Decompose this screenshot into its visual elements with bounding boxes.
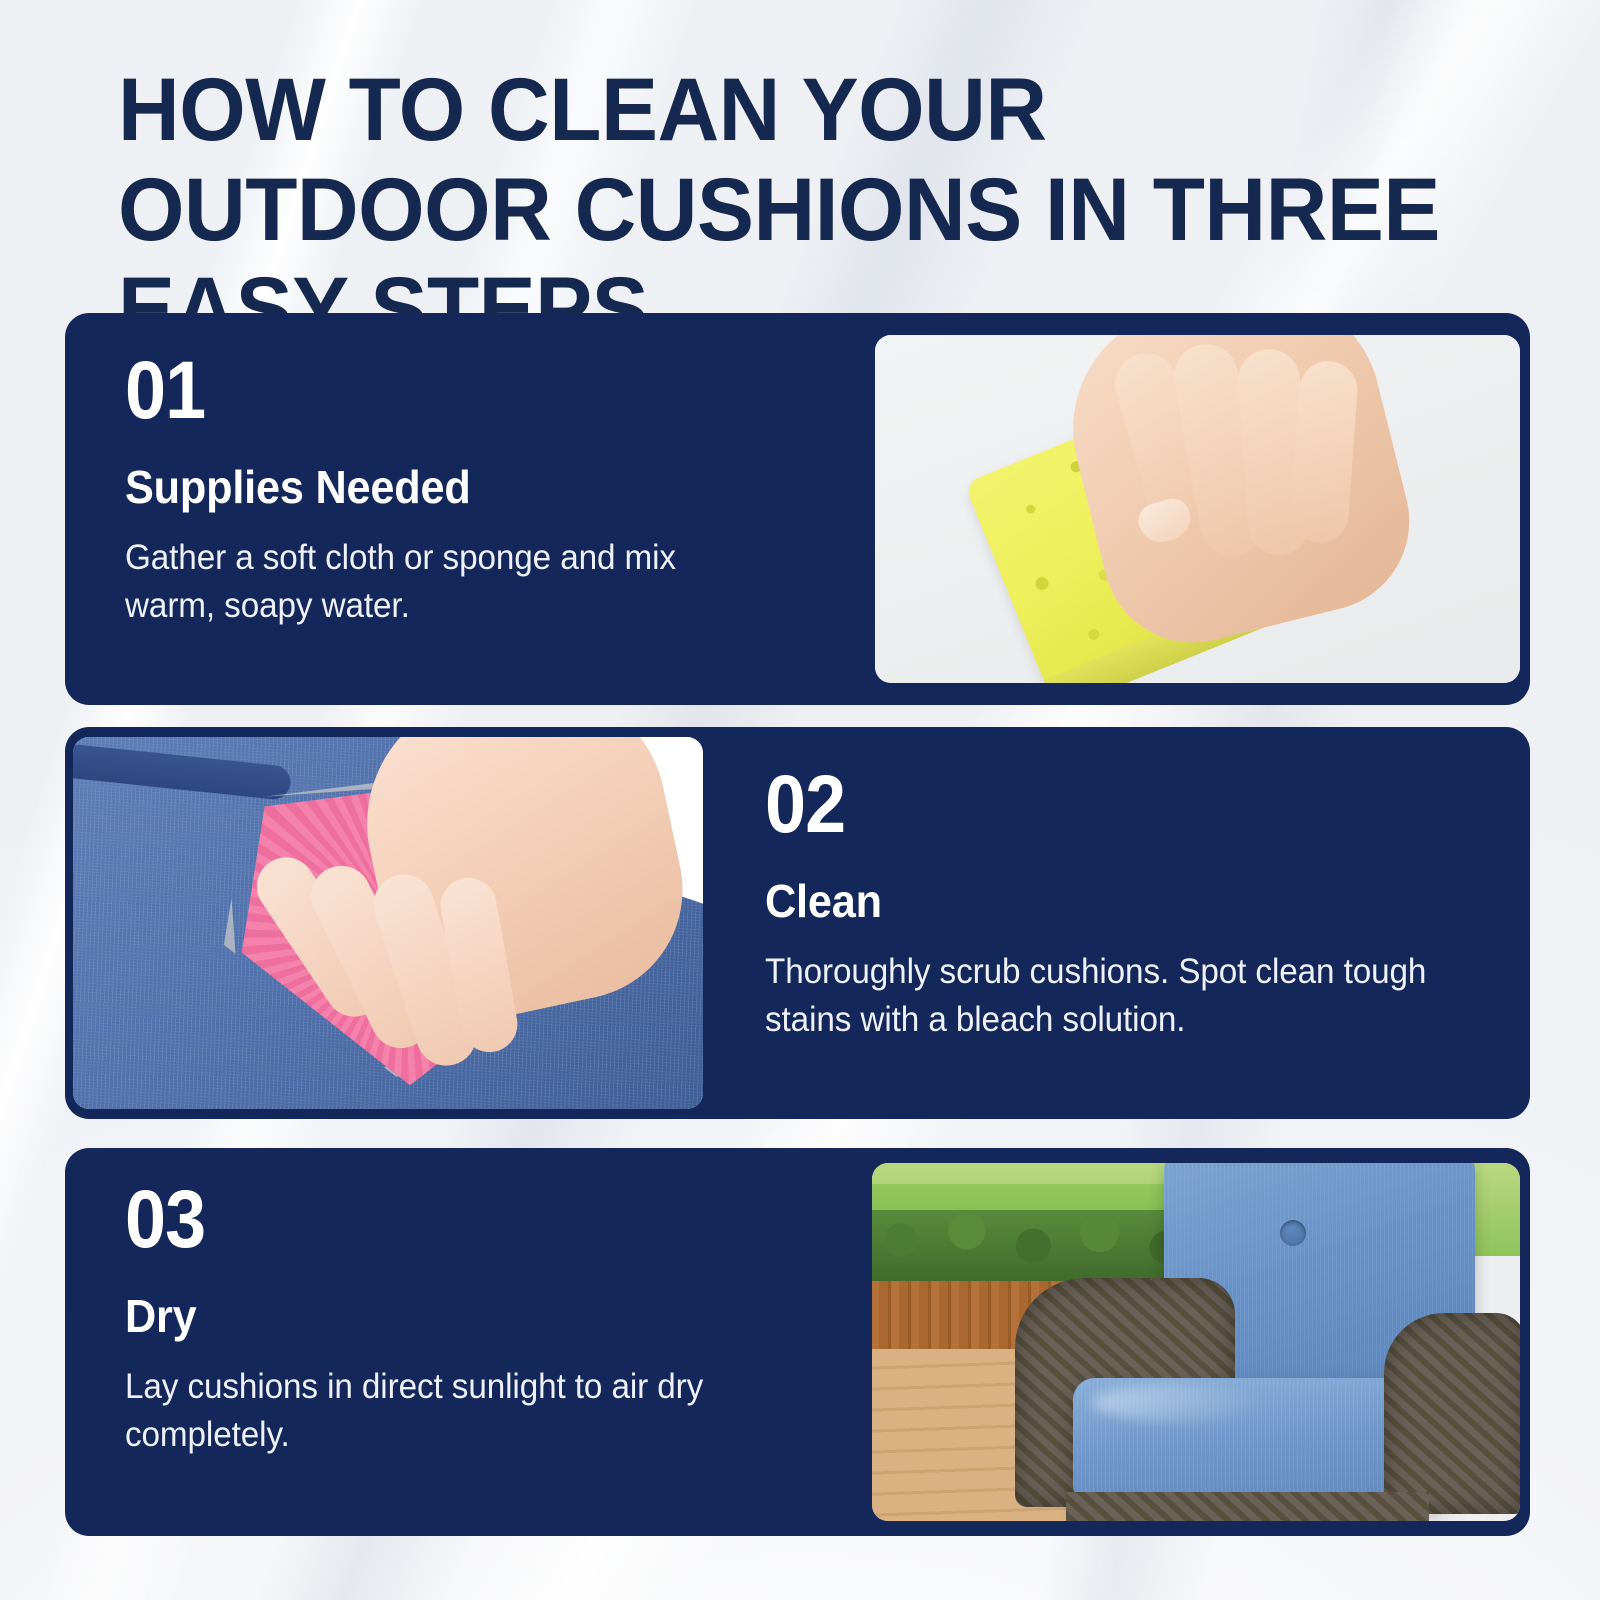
step-02-title: Clean	[765, 877, 1442, 925]
step-01-image	[875, 335, 1520, 683]
step-02-description: Thoroughly scrub cushions. Spot clean to…	[765, 948, 1468, 1045]
step-01-description: Gather a soft cloth or sponge and mix wa…	[125, 534, 771, 631]
step-01-text-block: 01 Supplies Needed Gather a soft cloth o…	[125, 351, 845, 630]
step-01-title: Supplies Needed	[125, 463, 802, 511]
step-card-01: 01 Supplies Needed Gather a soft cloth o…	[65, 313, 1530, 705]
step-card-03: 03 Dry Lay cushions in direct sunlight t…	[65, 1148, 1530, 1536]
step-03-description: Lay cushions in direct sunlight to air d…	[125, 1363, 771, 1460]
step-01-number: 01	[125, 351, 773, 431]
step-02-text-block: 02 Clean Thoroughly scrub cushions. Spot…	[765, 765, 1485, 1044]
step-03-image	[872, 1163, 1520, 1521]
step-03-text-block: 03 Dry Lay cushions in direct sunlight t…	[125, 1180, 845, 1459]
step-03-title: Dry	[125, 1292, 802, 1340]
step-02-number: 02	[765, 765, 1413, 845]
step-card-02: 02 Clean Thoroughly scrub cushions. Spot…	[65, 727, 1530, 1119]
step-03-number: 03	[125, 1180, 773, 1260]
wicker-armrest-right	[1384, 1313, 1520, 1513]
step-02-image	[73, 737, 703, 1109]
